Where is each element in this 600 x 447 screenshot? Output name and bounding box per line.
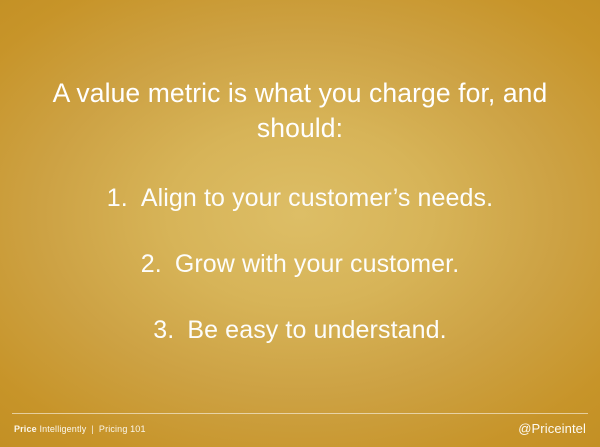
- list-item: 2.Grow with your customer.: [0, 249, 600, 279]
- slide-footer: Price Intelligently|Pricing 101 @Pricein…: [12, 413, 588, 443]
- list-item-label: Align to your customer’s needs.: [141, 183, 493, 213]
- list-item: 1.Align to your customer’s needs.: [0, 183, 600, 213]
- brand-name-bold: Price: [14, 424, 37, 434]
- slide: A value metric is what you charge for, a…: [0, 0, 600, 447]
- footer-separator: |: [86, 424, 99, 434]
- list-item-label: Grow with your customer.: [175, 249, 459, 279]
- list-item-label: Be easy to understand.: [187, 315, 446, 345]
- brand-name-rest: Intelligently: [39, 424, 86, 434]
- list-item-number: 2.: [141, 249, 162, 279]
- numbered-list: 1.Align to your customer’s needs. 2.Grow…: [0, 183, 600, 345]
- slide-content: A value metric is what you charge for, a…: [0, 0, 600, 447]
- footer-attribution: Price Intelligently|Pricing 101: [14, 424, 146, 434]
- list-item-number: 3.: [153, 315, 174, 345]
- list-item-number: 1.: [107, 183, 128, 213]
- footer-inner: Price Intelligently|Pricing 101 @Pricein…: [12, 414, 588, 443]
- list-item: 3.Be easy to understand.: [0, 315, 600, 345]
- slide-headline: A value metric is what you charge for, a…: [40, 76, 560, 146]
- social-handle: @Priceintel: [518, 421, 586, 436]
- deck-title: Pricing 101: [99, 424, 146, 434]
